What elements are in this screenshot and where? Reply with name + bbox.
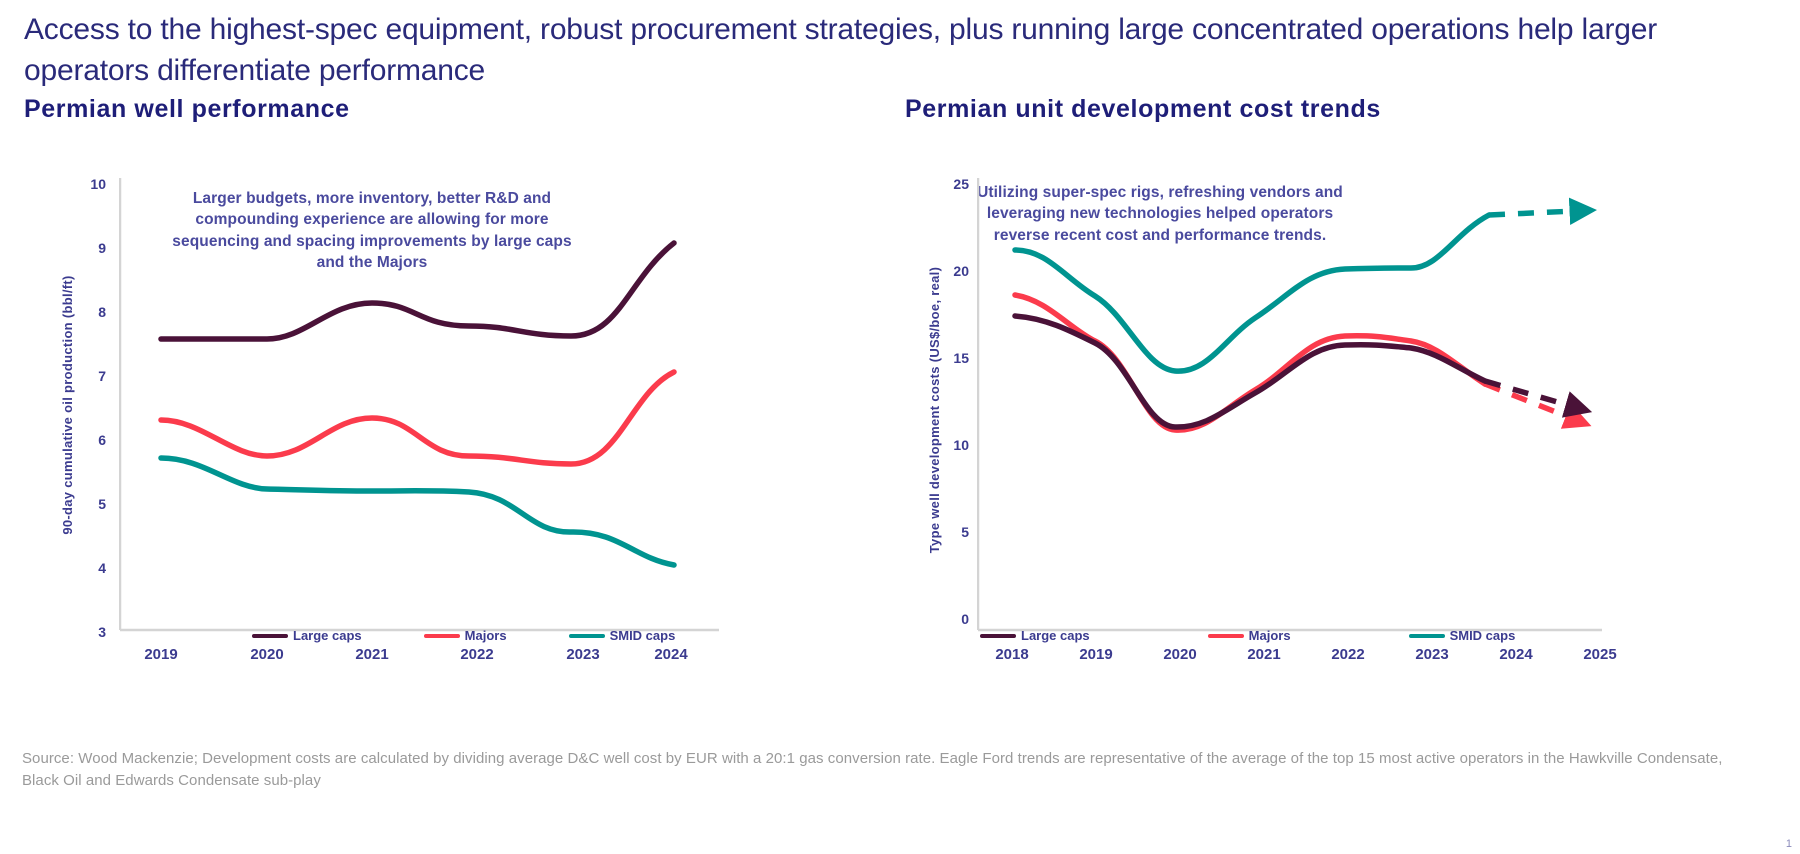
legend-label-large-caps-left: Large caps — [293, 628, 362, 643]
x-tick-left-2020: 2020 — [232, 646, 302, 663]
legend-item-majors-left[interactable]: Majors — [424, 628, 507, 643]
legend-right: Large caps Majors SMID caps — [980, 628, 1515, 643]
y-tick-left-7: 7 — [64, 368, 106, 384]
panel-permian-unit-development-cost-trends: Permian unit development cost trends Typ… — [905, 95, 1745, 630]
y-tick-left-10: 10 — [64, 176, 106, 192]
series-forecast-majors-right[interactable] — [1485, 384, 1571, 418]
x-tick-left-2022: 2022 — [442, 646, 512, 663]
x-tick-right-2025: 2025 — [1565, 646, 1635, 663]
line-swatch-icon — [980, 634, 1016, 638]
x-tick-right-2019: 2019 — [1061, 646, 1131, 663]
slide-headline: Access to the highest-spec equipment, ro… — [24, 10, 1784, 92]
x-tick-left-2021: 2021 — [337, 646, 407, 663]
series-forecast-smid-caps-right[interactable] — [1489, 211, 1575, 215]
series-line-majors-left — [161, 372, 674, 464]
y-tick-left-5: 5 — [64, 496, 106, 512]
series-line-large-caps-left — [161, 243, 674, 339]
x-tick-right-2023: 2023 — [1397, 646, 1467, 663]
x-tick-left-2019: 2019 — [126, 646, 196, 663]
page-number: 1 — [1786, 838, 1792, 850]
y-tick-right-20: 20 — [927, 263, 969, 279]
legend-item-large-caps-left[interactable]: Large caps — [252, 628, 362, 643]
legend-left: Large caps Majors SMID caps — [252, 628, 675, 643]
legend-label-smid-caps-left: SMID caps — [610, 628, 676, 643]
x-tick-left-2023: 2023 — [548, 646, 618, 663]
y-tick-left-8: 8 — [64, 304, 106, 320]
x-tick-right-2020: 2020 — [1145, 646, 1215, 663]
y-tick-right-25: 25 — [927, 176, 969, 192]
legend-item-smid-caps-right[interactable]: SMID caps — [1409, 628, 1516, 643]
y-tick-left-3: 3 — [64, 624, 106, 640]
x-tick-right-2021: 2021 — [1229, 646, 1299, 663]
x-tick-right-2024: 2024 — [1481, 646, 1551, 663]
panel-title-left: Permian well performance — [24, 95, 864, 124]
panel-permian-well-performance: Permian well performance 90-day cumulati… — [24, 95, 864, 630]
x-tick-right-2022: 2022 — [1313, 646, 1383, 663]
line-swatch-icon — [1409, 634, 1445, 638]
y-tick-left-6: 6 — [64, 432, 106, 448]
slide: Access to the highest-spec equipment, ro… — [0, 0, 1800, 854]
y-tick-left-9: 9 — [64, 240, 106, 256]
line-swatch-icon — [569, 634, 605, 638]
line-swatch-icon — [424, 634, 460, 638]
source-footnote: Source: Wood Mackenzie; Development cost… — [22, 748, 1752, 792]
plot-area-right — [977, 178, 1617, 648]
legend-label-large-caps-right: Large caps — [1021, 628, 1090, 643]
legend-item-large-caps-right[interactable]: Large caps — [980, 628, 1090, 643]
y-tick-right-0: 0 — [927, 611, 969, 627]
series-line-majors-right — [1015, 295, 1485, 430]
legend-label-majors-left: Majors — [465, 628, 507, 643]
plot-area-left — [119, 178, 739, 638]
series-forecast-large-caps-right[interactable] — [1485, 381, 1571, 406]
line-swatch-icon — [252, 634, 288, 638]
x-tick-left-2024: 2024 — [636, 646, 706, 663]
x-tick-right-2018: 2018 — [977, 646, 1047, 663]
chart-permian-unit-development-cost-trends: Type well development costs (US$/boe, re… — [905, 130, 1745, 630]
panel-title-right: Permian unit development cost trends — [905, 95, 1745, 124]
legend-item-smid-caps-left[interactable]: SMID caps — [569, 628, 676, 643]
y-tick-left-4: 4 — [64, 560, 106, 576]
y-axis-label-left: 90-day cumulative oil production (bbl/ft… — [60, 200, 76, 610]
y-tick-right-5: 5 — [927, 524, 969, 540]
y-tick-right-15: 15 — [927, 350, 969, 366]
chart-permian-well-performance: 90-day cumulative oil production (bbl/ft… — [24, 130, 864, 630]
line-swatch-icon — [1208, 634, 1244, 638]
y-tick-right-10: 10 — [927, 437, 969, 453]
legend-item-majors-right[interactable]: Majors — [1208, 628, 1291, 643]
legend-label-majors-right: Majors — [1249, 628, 1291, 643]
series-line-smid-caps-left — [161, 458, 674, 565]
legend-label-smid-caps-right: SMID caps — [1450, 628, 1516, 643]
